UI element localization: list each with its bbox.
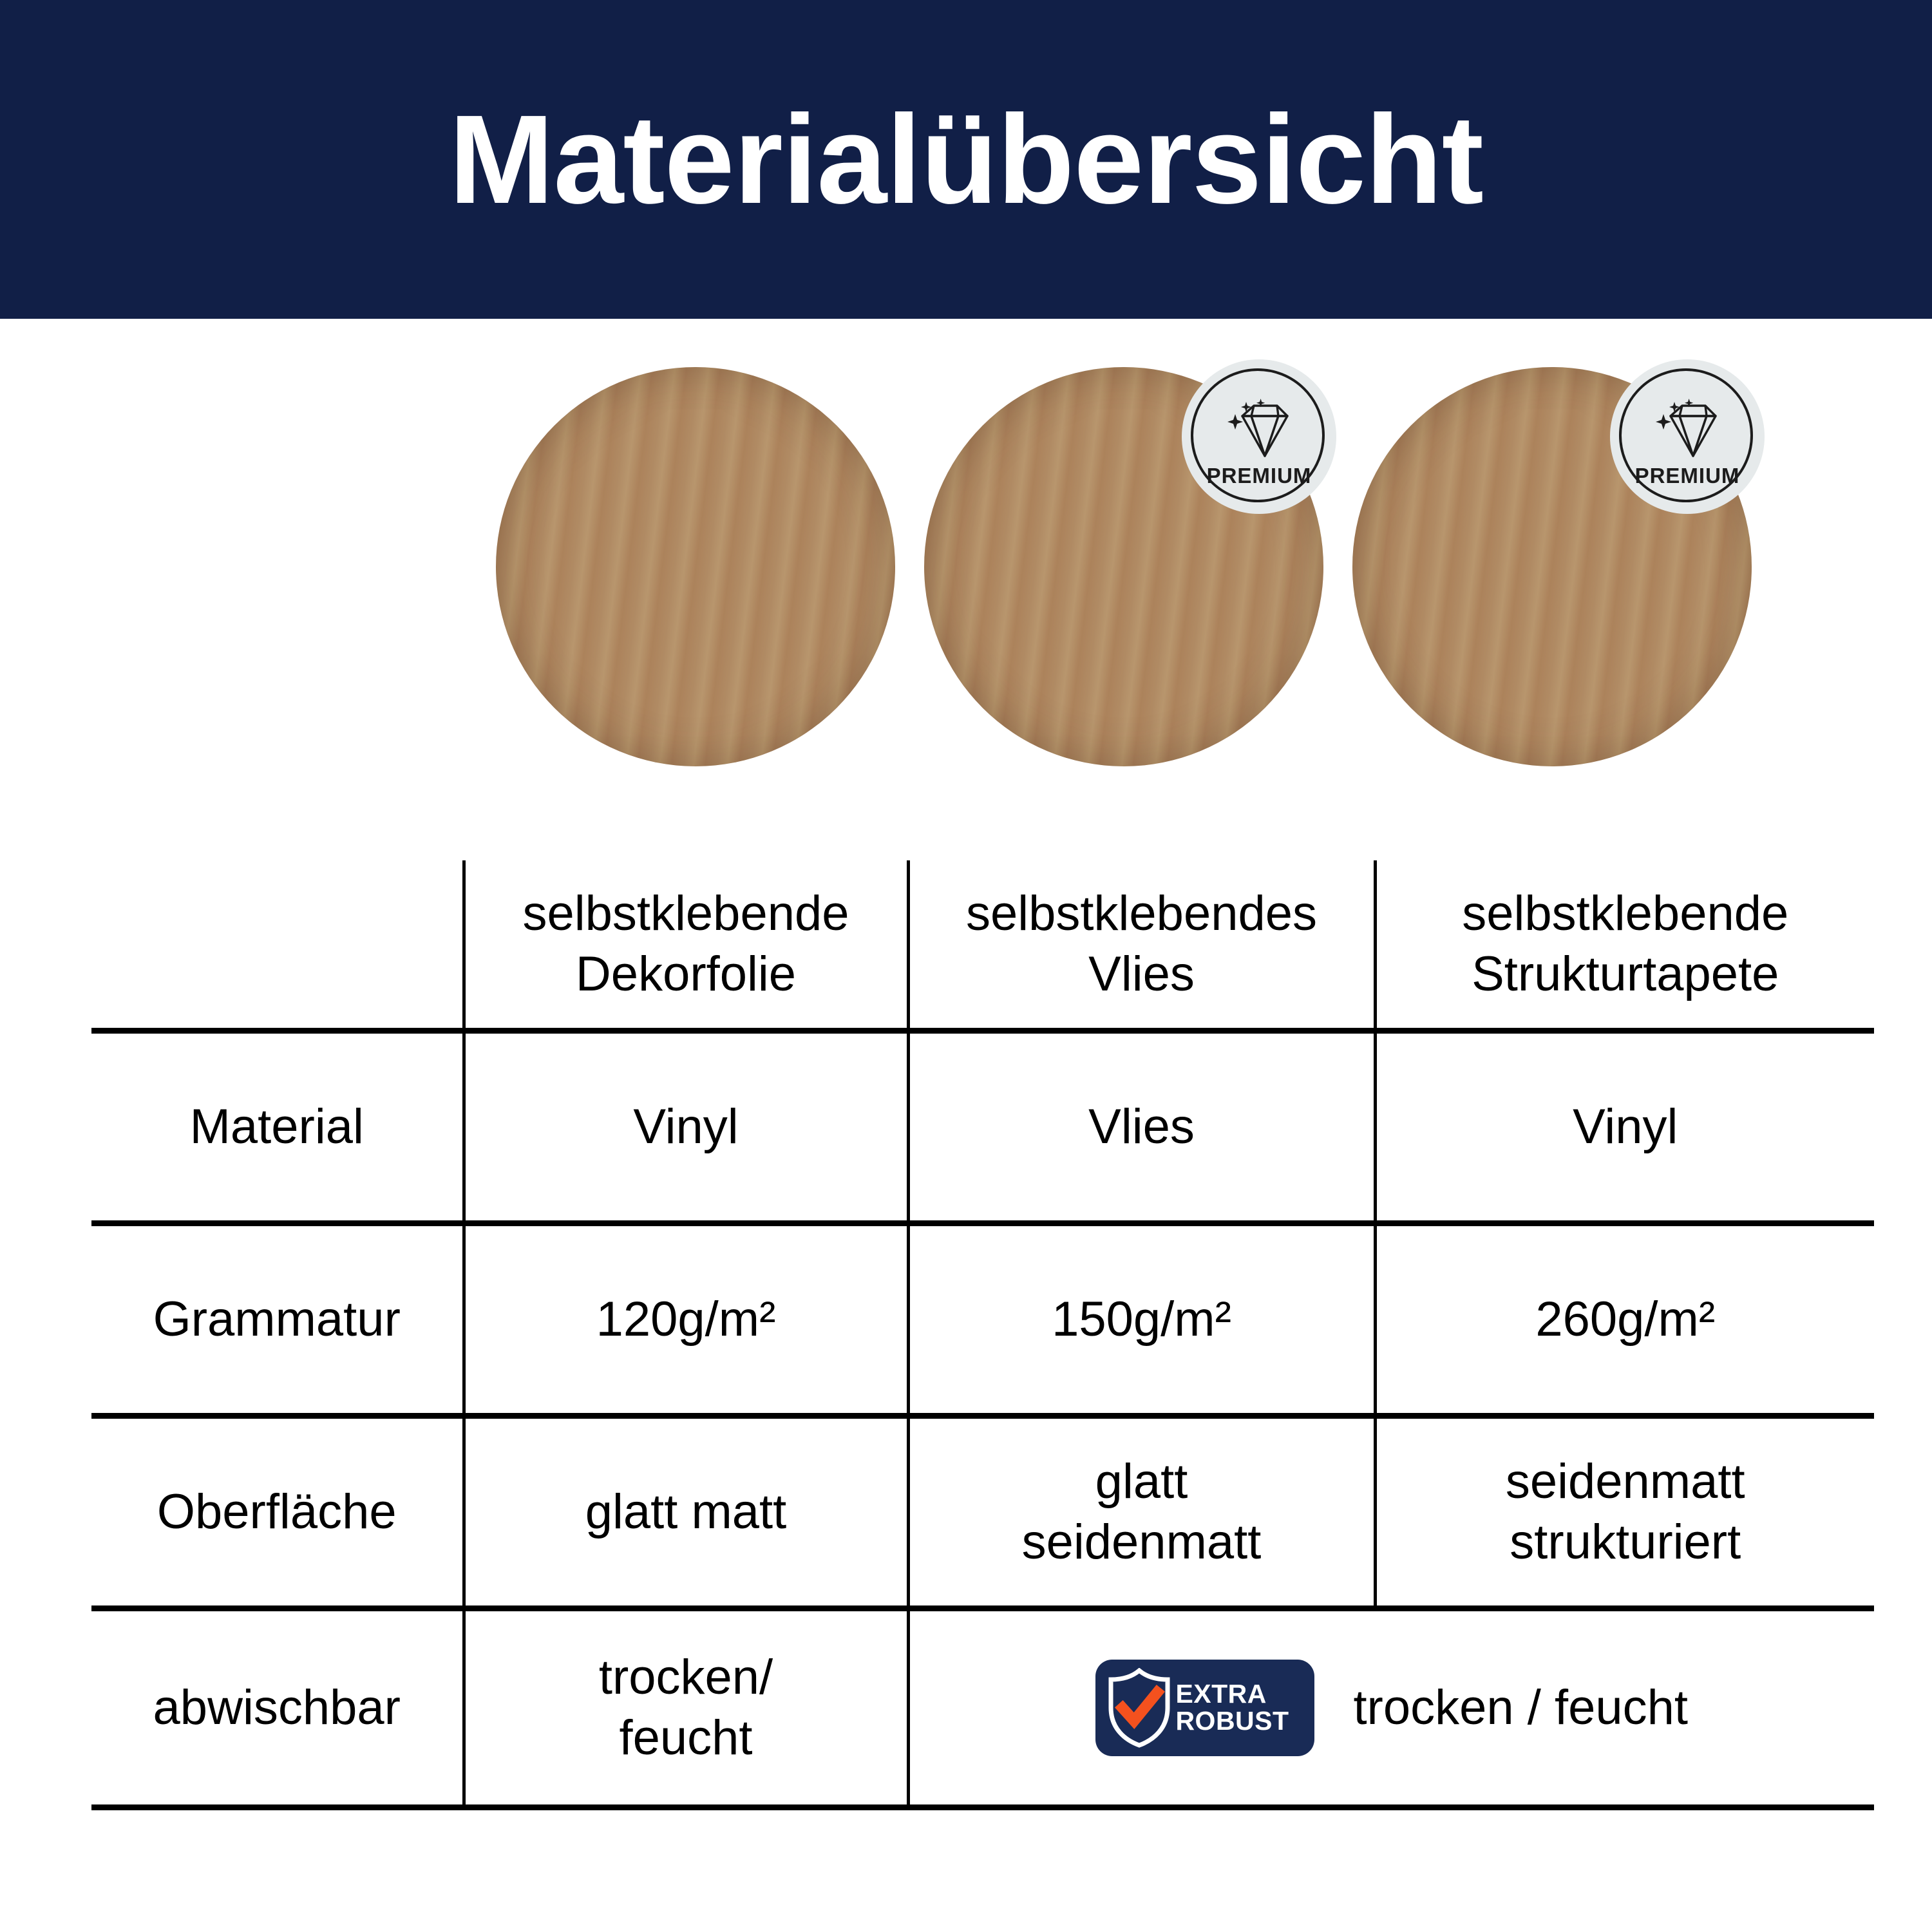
cell-oberflaeche-vlies: glatt seidenmatt (908, 1416, 1375, 1609)
diamond-icon (1651, 398, 1723, 460)
sample-dekorfolie (496, 367, 895, 766)
cell-line1: trocken/ (466, 1647, 907, 1708)
row-label-grammatur: Grammatur (91, 1224, 464, 1416)
cell-material-dekorfolie: Vinyl (464, 1031, 908, 1224)
cell-line1: glatt (910, 1452, 1374, 1512)
column-header-dekorfolie: selbstklebende Dekorfolie (464, 860, 908, 1031)
column-header-line1: selbstklebende (466, 884, 907, 944)
column-header-line1: selbstklebendes (910, 884, 1374, 944)
cell-line1: seidenmatt (1377, 1452, 1875, 1512)
cell-abwischbar-dekorfolie: trocken/ feucht (464, 1609, 908, 1808)
cell-grammatur-strukturtapete: 260g/m² (1375, 1224, 1874, 1416)
robust-badge-line1: EXTRA (1175, 1681, 1289, 1708)
cell-grammatur-dekorfolie: 120g/m² (464, 1224, 908, 1416)
table-row-abwischbar: abwischbar trocken/ feucht (91, 1609, 1874, 1808)
cell-abwischbar-merged-text: trocken / feucht (1353, 1678, 1688, 1738)
column-header-line2: Strukturtapete (1377, 944, 1875, 1005)
column-header-line2: Vlies (910, 944, 1374, 1005)
column-header-vlies: selbstklebendes Vlies (908, 860, 1375, 1031)
page-header: Materialübersicht (0, 0, 1932, 319)
extra-robust-badge: EXTRA ROBUST (1095, 1660, 1314, 1756)
row-label-material: Material (91, 1031, 464, 1224)
column-header-strukturtapete: selbstklebende Strukturtapete (1375, 860, 1874, 1031)
shield-check-icon (1107, 1668, 1171, 1748)
stone-wall-texture-image-1 (496, 367, 895, 766)
sample-strukturtapete: PREMIUM (1352, 367, 1752, 766)
premium-badge-label: PREMIUM (1207, 465, 1312, 486)
table-header-row: selbstklebende Dekorfolie selbstklebende… (91, 860, 1874, 1031)
cell-abwischbar-merged: EXTRA ROBUST trocken / feucht (908, 1609, 1874, 1808)
header-corner-cell (91, 860, 464, 1031)
cell-line1: glatt matt (466, 1482, 907, 1542)
cell-oberflaeche-strukturtapete: seidenmatt strukturiert (1375, 1416, 1874, 1609)
row-label-oberflaeche: Oberfläche (91, 1416, 464, 1609)
premium-badge-strukturtapete: PREMIUM (1610, 359, 1765, 514)
cell-oberflaeche-dekorfolie: glatt matt (464, 1416, 908, 1609)
premium-badge-vlies: PREMIUM (1182, 359, 1336, 514)
table-row-grammatur: Grammatur 120g/m² 150g/m² 260g/m² (91, 1224, 1874, 1416)
material-spec-table: selbstklebende Dekorfolie selbstklebende… (91, 860, 1874, 1810)
table-row-material: Material Vinyl Vlies Vinyl (91, 1031, 1874, 1224)
cell-line2: seidenmatt (910, 1512, 1374, 1573)
premium-badge-label: PREMIUM (1635, 465, 1740, 486)
material-sample-gallery: PREMIUM (0, 367, 1932, 773)
cell-grammatur-vlies: 150g/m² (908, 1224, 1375, 1416)
table-row-oberflaeche: Oberfläche glatt matt glatt seidenmatt s… (91, 1416, 1874, 1609)
column-header-line1: selbstklebende (1377, 884, 1875, 944)
cell-material-strukturtapete: Vinyl (1375, 1031, 1874, 1224)
row-label-abwischbar: abwischbar (91, 1609, 464, 1808)
sample-vlies: PREMIUM (924, 367, 1323, 766)
cell-line2: feucht (466, 1708, 907, 1768)
robust-badge-line2: ROBUST (1175, 1708, 1289, 1735)
column-header-line2: Dekorfolie (466, 944, 907, 1005)
page-title: Materialübersicht (449, 97, 1483, 223)
diamond-icon (1223, 398, 1295, 460)
cell-material-vlies: Vlies (908, 1031, 1375, 1224)
cell-line2: strukturiert (1377, 1512, 1875, 1573)
